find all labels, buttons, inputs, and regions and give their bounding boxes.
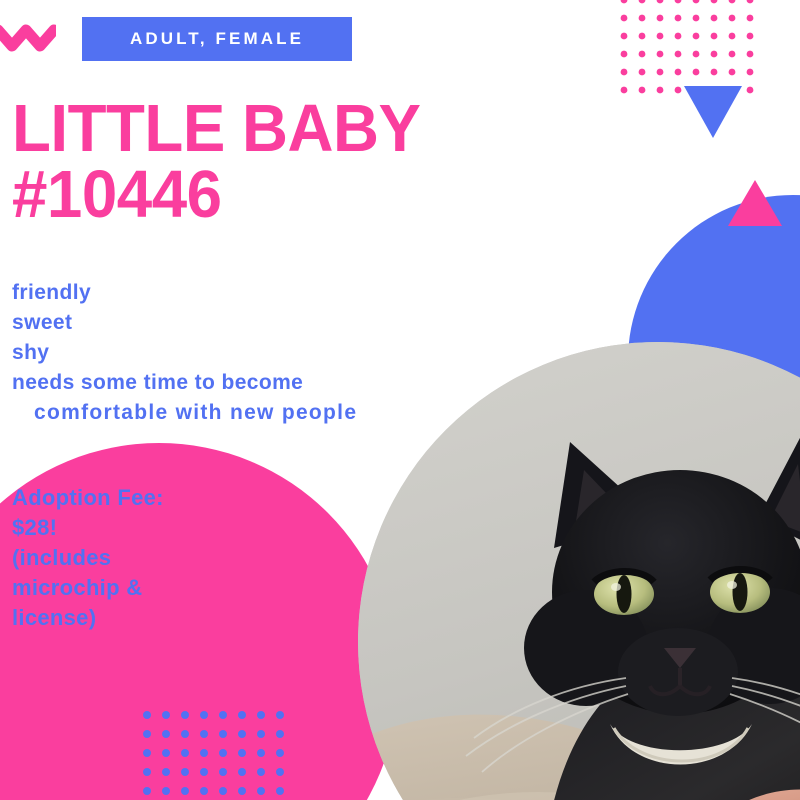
dot-grid-pink-icon — [620, 0, 760, 108]
list-item: shy — [12, 338, 357, 368]
status-badge: ADULT, FEMALE — [82, 17, 352, 61]
list-item: comfortable with new people — [12, 398, 357, 428]
adoption-fee-includes-line-1: (includes — [12, 543, 164, 573]
adoption-fee-block: Adoption Fee: $28! (includes microchip &… — [12, 483, 164, 633]
trait-list: friendly sweet shy needs some time to be… — [12, 278, 357, 428]
triangle-down-icon — [684, 86, 742, 138]
list-item: friendly — [12, 278, 357, 308]
adoption-fee-includes-line-3: license) — [12, 603, 164, 633]
status-badge-label: ADULT, FEMALE — [130, 29, 304, 49]
pet-photo — [358, 342, 800, 800]
page-title: LITTLE BABY #10446 — [12, 96, 420, 229]
list-item: needs some time to become — [12, 368, 357, 398]
zigzag-wave-icon — [0, 24, 56, 54]
adoption-fee-label: Adoption Fee: — [12, 483, 164, 513]
adoption-fee-includes-line-2: microchip & — [12, 573, 164, 603]
dot-grid-blue-icon — [142, 710, 294, 800]
triangle-up-icon — [728, 180, 782, 226]
adoption-poster: ADULT, FEMALE LITTLE BABY #10446 friendl… — [0, 0, 800, 800]
adoption-fee-amount: $28! — [12, 513, 164, 543]
list-item: sweet — [12, 308, 357, 338]
decorative-circle-blue — [628, 195, 800, 525]
